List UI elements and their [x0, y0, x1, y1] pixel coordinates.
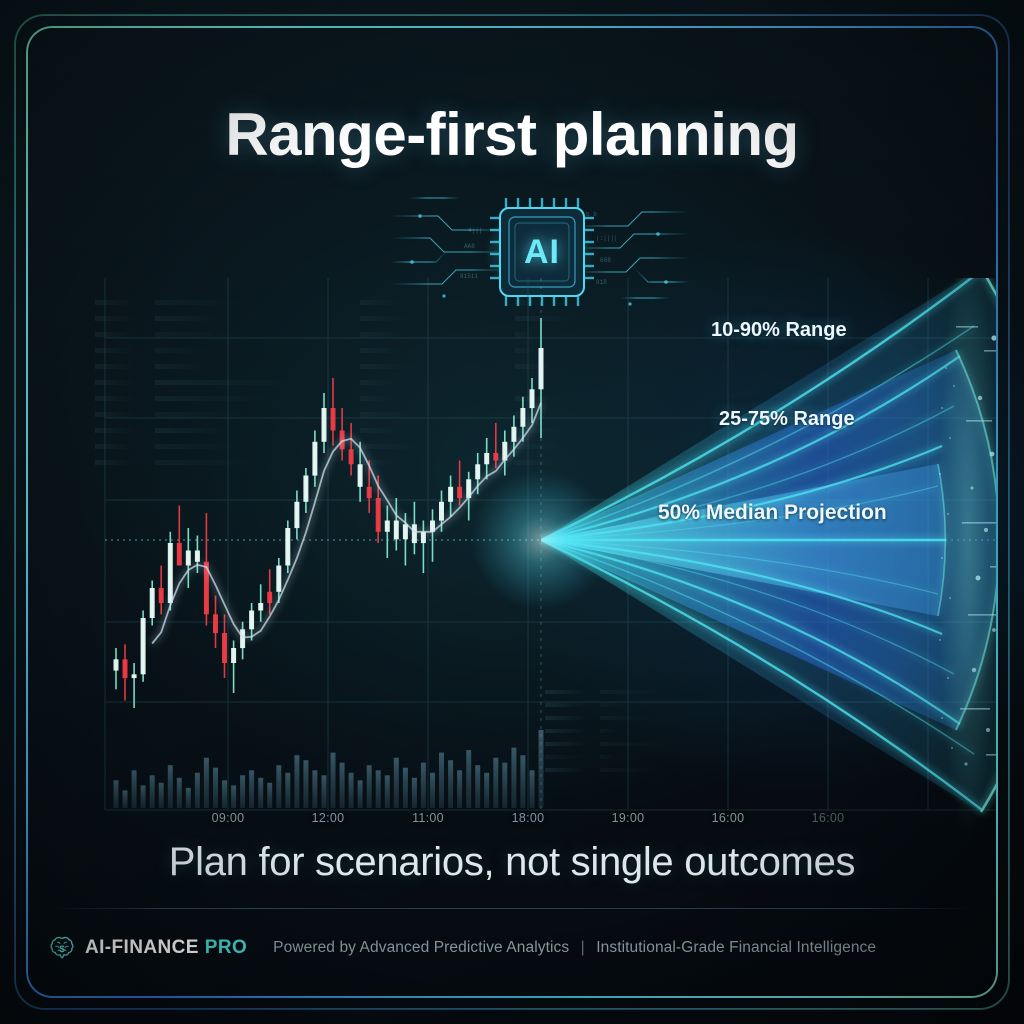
candle-47 [539, 318, 544, 438]
volume-bar [502, 763, 507, 808]
volume-bar [195, 773, 200, 808]
brain-dollar-icon: $ [48, 934, 76, 962]
candle-38 [457, 461, 462, 506]
candle-23 [322, 393, 327, 453]
content-area: 4|||AA881511 b b|:||||608818 AI Range-fi… [28, 28, 996, 996]
volume-bar [421, 763, 426, 808]
candle-24 [331, 378, 336, 446]
candle-17 [267, 569, 272, 614]
svg-text:4|||: 4||| [468, 227, 482, 234]
candle-30 [385, 506, 390, 559]
x-tick-0: 09:00 [212, 811, 245, 825]
volume-bar [141, 785, 146, 808]
volume-bar [403, 768, 408, 808]
x-tick-1: 12:00 [312, 811, 345, 825]
volume-bar [132, 770, 137, 808]
candle-2 [132, 663, 137, 708]
svg-text:$: $ [59, 944, 65, 955]
volume-bar [349, 773, 354, 808]
volume-bar [394, 758, 399, 808]
volume-bar [448, 760, 453, 808]
brand-accent: PRO [205, 937, 247, 958]
candle-12 [222, 614, 227, 678]
forecast-chart: 09:00 12:00 11:00 18:00 19:00 16:00 16:0… [76, 278, 996, 838]
volume-bar [430, 773, 435, 808]
candle-19 [285, 521, 290, 574]
chart-canvas [76, 278, 996, 838]
volume-bar [123, 790, 128, 808]
volume-bar [484, 773, 489, 808]
volume-bar [150, 775, 155, 808]
volume-bar [367, 765, 372, 808]
volume-bar [331, 753, 336, 808]
volume-bar [285, 773, 290, 808]
x-axis-labels: 09:00 12:00 11:00 18:00 19:00 16:00 16:0… [76, 811, 996, 831]
volume-bar [340, 763, 345, 808]
candle-31 [394, 498, 399, 551]
candle-25 [340, 408, 345, 461]
volume-bar [204, 758, 209, 808]
candle-0 [114, 648, 119, 689]
x-tick-3: 18:00 [512, 811, 545, 825]
volume-bar [376, 770, 381, 808]
volume-bar [493, 758, 498, 808]
brand-primary: AI-FINANCE [85, 937, 199, 958]
volume-bar [511, 748, 516, 808]
band-label-10-90: 10-90% Range [711, 319, 847, 342]
x-tick-2: 11:00 [412, 811, 444, 825]
candle-3 [141, 611, 146, 682]
tagline-right: Institutional-Grade Financial Intelligen… [596, 939, 876, 956]
candle-8 [186, 528, 191, 588]
candle-26 [349, 423, 354, 476]
brand-wordmark: AI-FINANCEPRO [85, 937, 247, 959]
volume-bar [186, 788, 191, 808]
page-subtitle: Plan for scenarios, not single outcomes [28, 840, 996, 885]
volume-bar [222, 780, 227, 808]
volume-bar [249, 770, 254, 808]
volume-bar [530, 770, 535, 808]
volume-bar [439, 753, 444, 808]
candle-37 [448, 476, 453, 517]
volume-bar [159, 783, 164, 808]
volume-bar [358, 780, 363, 808]
volume-bar [520, 755, 525, 808]
volume-bar [240, 775, 245, 808]
candle-42 [493, 423, 498, 468]
tagline-left: Powered by Advanced Predictive Analytics [273, 939, 569, 956]
candle-6 [168, 532, 173, 611]
candle-16 [258, 584, 263, 622]
candle-14 [240, 622, 245, 660]
volume-bar [168, 765, 173, 808]
svg-text:AA8: AA8 [464, 243, 475, 250]
volume-bar [312, 770, 317, 808]
volume-bar [231, 785, 236, 808]
candle-43 [502, 431, 507, 476]
volume-bar [267, 783, 272, 808]
volume-bar [177, 778, 182, 808]
band-label-25-75: 25-75% Range [719, 408, 855, 431]
volume-bar [412, 778, 417, 808]
infographic-canvas: 4|||AA881511 b b|:||||608818 AI Range-fi… [0, 0, 1024, 1024]
volume-bar [114, 780, 119, 808]
footer-divider [48, 908, 976, 909]
candle-22 [312, 431, 317, 487]
candle-35 [430, 509, 435, 562]
footer-bar: $ AI-FINANCEPRO Powered by Advanced Pred… [48, 930, 976, 966]
candle-46 [530, 378, 535, 423]
volume-bar [258, 778, 263, 808]
x-tick-4: 19:00 [612, 811, 645, 825]
x-tick-6: 16:00 [812, 811, 845, 825]
candle-11 [213, 596, 218, 649]
candle-21 [303, 468, 308, 513]
candle-13 [231, 641, 236, 694]
candle-7 [177, 506, 182, 566]
candle-33 [412, 502, 417, 555]
volume-bar [276, 765, 281, 808]
projection-fan [541, 278, 996, 838]
svg-text:|:||||: |:|||| [596, 235, 618, 242]
volume-bar [466, 750, 471, 808]
volume-bar [303, 760, 308, 808]
svg-text:608: 608 [600, 257, 611, 264]
candle-1 [123, 644, 128, 700]
candle-9 [195, 536, 200, 574]
footer-tagline: Powered by Advanced Predictive Analytics… [273, 939, 876, 957]
volume-bar [213, 768, 218, 808]
candle-4 [150, 581, 155, 626]
volume-bar [475, 765, 480, 808]
volume-bar [322, 775, 327, 808]
volume-bar [457, 770, 462, 808]
candle-5 [159, 566, 164, 615]
candle-41 [484, 438, 489, 479]
x-tick-5: 16:00 [712, 811, 745, 825]
tagline-separator: | [581, 939, 585, 956]
page-title: Range-first planning [28, 100, 996, 169]
band-label-median: 50% Median Projection [658, 501, 887, 525]
volume-bar [385, 775, 390, 808]
candle-34 [421, 521, 426, 574]
volume-bar [294, 755, 299, 808]
candle-20 [294, 491, 299, 540]
